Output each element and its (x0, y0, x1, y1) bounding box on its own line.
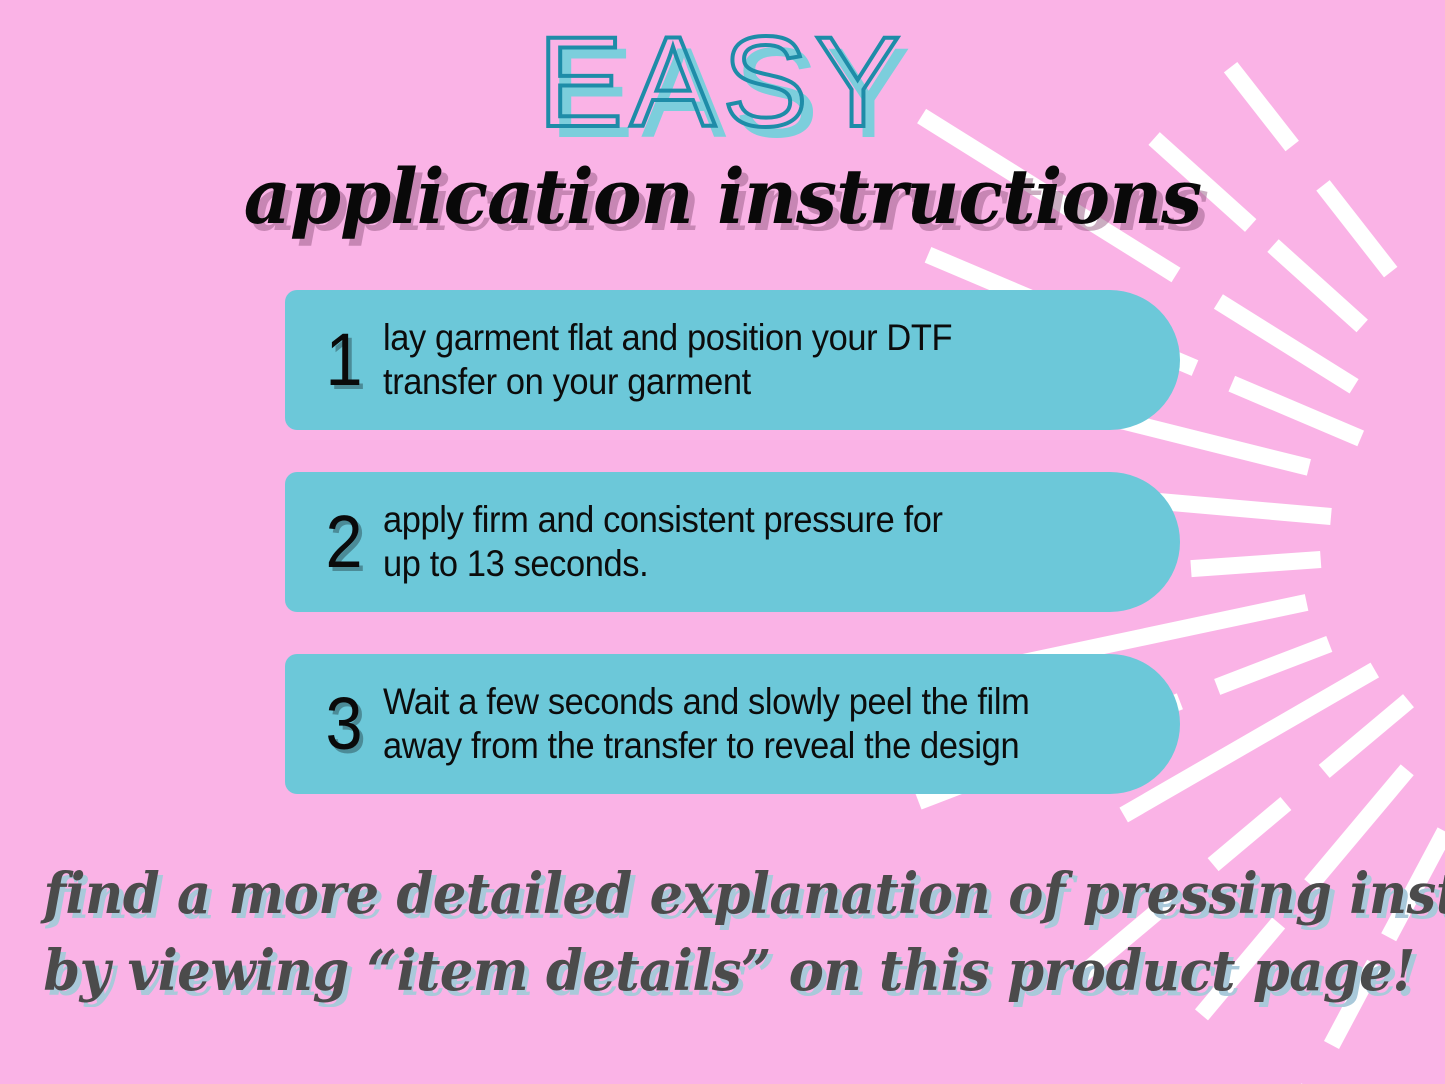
poster-canvas: EASY EASY application instructions 1 lay… (0, 0, 1445, 1084)
step-text-2-line-1: apply firm and consistent pressure for (383, 498, 1087, 542)
step-item-3: 3 Wait a few seconds and slowly peel the… (285, 654, 1180, 794)
steps-list: 1 lay garment flat and position your DTF… (285, 290, 1180, 794)
footer-note-line-1: find a more detailed explanation of pres… (43, 856, 1401, 933)
step-text-1-line-2: transfer on your garment (383, 360, 1087, 404)
step-item-1: 1 lay garment flat and position your DTF… (285, 290, 1180, 430)
step-number-1: 1 (316, 323, 372, 397)
step-text-3: Wait a few seconds and slowly peel the f… (383, 680, 1124, 767)
footer-note: find a more detailed explanation of pres… (0, 856, 1445, 1011)
step-text-1: lay garment flat and position your DTF t… (383, 316, 1124, 403)
sunburst-ray-dash (1217, 644, 1329, 687)
step-text-2: apply firm and consistent pressure for u… (383, 498, 1124, 585)
headline-easy-outline: EASY (0, 14, 1445, 152)
sunburst-ray-dash (1324, 701, 1408, 772)
footer-note-line-2: by viewing “item details” on this produc… (43, 933, 1401, 1010)
sunburst-ray-dash (1191, 560, 1321, 569)
step-item-2: 2 apply firm and consistent pressure for… (285, 472, 1180, 612)
step-text-2-line-2: up to 13 seconds. (383, 542, 1087, 586)
step-number-3: 3 (316, 687, 372, 761)
step-text-1-line-1: lay garment flat and position your DTF (383, 316, 1087, 360)
step-number-2: 2 (316, 505, 372, 579)
sunburst-ray-dash (1273, 246, 1362, 326)
sunburst-ray-dash (1232, 384, 1361, 439)
subtitle-application-instructions: application instructions (29, 152, 1416, 241)
step-text-3-line-1: Wait a few seconds and slowly peel the f… (383, 680, 1087, 724)
headline-easy: EASY EASY (0, 14, 1445, 164)
step-text-3-line-2: away from the transfer to reveal the des… (383, 724, 1087, 768)
sunburst-ray-dash (1218, 302, 1354, 387)
